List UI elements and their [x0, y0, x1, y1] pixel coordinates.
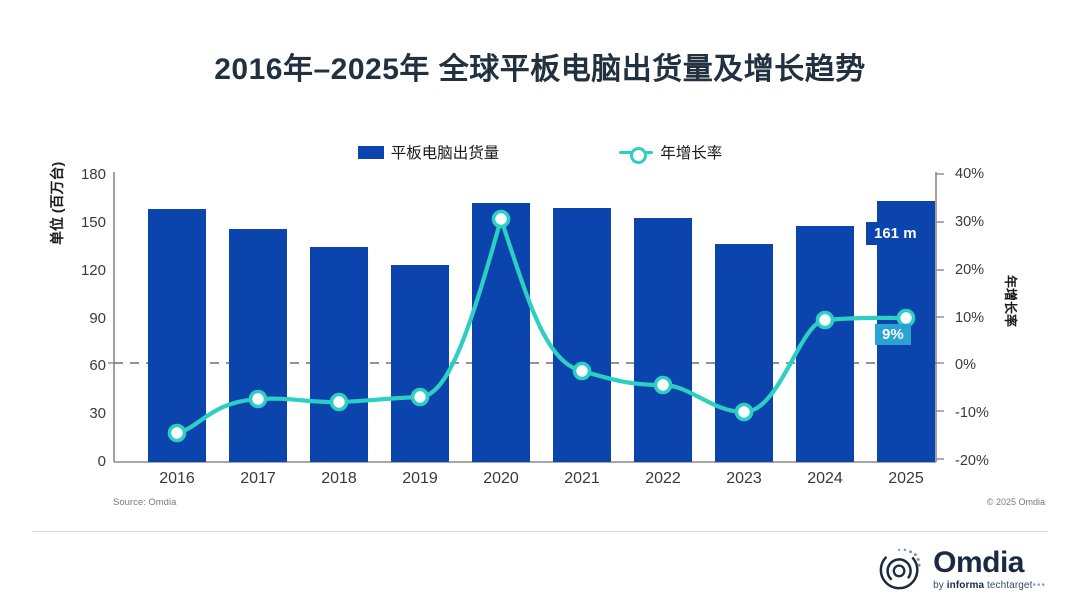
- page-title: 2016年–2025年 全球平板电脑出货量及增长趋势: [0, 44, 1080, 88]
- tagline-suffix: techtarget: [984, 580, 1032, 591]
- line-point-2021[interactable]: [575, 364, 590, 379]
- line-point-2024[interactable]: [818, 313, 833, 328]
- x-tick-2022: 2022: [623, 470, 703, 488]
- chart-legend: 平板电脑出货量 年增长率: [0, 141, 1080, 163]
- omdia-logo-wordmark: Omdia: [933, 548, 1046, 578]
- legend-label-shipments: 平板电脑出货量: [391, 141, 500, 163]
- x-tick-2019: 2019: [380, 470, 460, 488]
- bar-2024[interactable]: [796, 226, 854, 462]
- line-point-2019[interactable]: [413, 390, 428, 405]
- y-tick-left-60: 60: [58, 357, 106, 374]
- y-tick-right-40: 40%: [955, 166, 1011, 182]
- footer-divider: [32, 531, 1048, 532]
- y-tick-right-0: 0%: [955, 357, 1011, 373]
- tagline-dots: •••: [1032, 580, 1046, 591]
- x-tick-2025: 2025: [866, 470, 946, 488]
- line-point-markers: [170, 212, 914, 441]
- line-point-2025[interactable]: [899, 311, 914, 326]
- bar-2019[interactable]: [391, 265, 449, 462]
- legend-bar-swatch-icon: [358, 146, 384, 159]
- x-tick-2023: 2023: [704, 470, 784, 488]
- line-point-2017[interactable]: [251, 392, 266, 407]
- x-tick-2017: 2017: [218, 470, 298, 488]
- line-series-growth-rate: [177, 219, 906, 433]
- omdia-logo-tagline: by informa techtarget•••: [933, 581, 1046, 591]
- y-tick-left-180: 180: [58, 166, 106, 183]
- x-tick-2021: 2021: [542, 470, 622, 488]
- x-tick-2020: 2020: [461, 470, 541, 488]
- y-tick-left-90: 90: [58, 310, 106, 327]
- legend-item-shipments[interactable]: 平板电脑出货量: [358, 141, 500, 163]
- y-tick-marks-right: [936, 174, 944, 459]
- bar-series-shipments: [148, 201, 935, 462]
- bar-2020[interactable]: [472, 203, 530, 462]
- legend-line-swatch-icon: [619, 145, 653, 159]
- line-point-2023[interactable]: [737, 405, 752, 420]
- source-note: Source: Omdia: [113, 497, 176, 508]
- y-tick-right-10: 10%: [955, 310, 1011, 326]
- line-data-label-2025: 9%: [875, 324, 911, 345]
- omdia-logo-mark-icon: [878, 546, 924, 592]
- chart-canvas: [0, 0, 1080, 608]
- bar-data-label-2025: 161 m: [866, 222, 925, 245]
- legend-label-growth-rate: 年增长率: [660, 141, 722, 163]
- chart-plot-area: 单位 (百万台) 年增长率 180 150 120 90 60 30 0 40%…: [0, 0, 1080, 608]
- y-tick-left-120: 120: [58, 262, 106, 279]
- y-tick-right-30: 30%: [955, 214, 1011, 230]
- line-point-2016[interactable]: [170, 426, 185, 441]
- tagline-prefix: by: [933, 580, 947, 591]
- bar-2025[interactable]: [877, 201, 935, 462]
- x-tick-2018: 2018: [299, 470, 379, 488]
- copyright-note: © 2025 Omdia: [987, 497, 1045, 507]
- bar-2018[interactable]: [310, 247, 368, 462]
- y-tick-right-n20: -20%: [955, 453, 1011, 469]
- line-point-2022[interactable]: [656, 378, 671, 393]
- line-point-2020[interactable]: [494, 212, 509, 227]
- bar-2016[interactable]: [148, 209, 206, 462]
- x-tick-2024: 2024: [785, 470, 865, 488]
- bar-2022[interactable]: [634, 218, 692, 462]
- y-tick-right-20: 20%: [955, 262, 1011, 278]
- bar-2017[interactable]: [229, 229, 287, 462]
- legend-item-growth-rate[interactable]: 年增长率: [619, 141, 722, 163]
- line-point-2018[interactable]: [332, 395, 347, 410]
- y-axis-title-left: 单位 (百万台): [47, 162, 67, 245]
- omdia-logo: Omdia by informa techtarget•••: [878, 546, 1046, 592]
- bar-2021[interactable]: [553, 208, 611, 462]
- bar-2023[interactable]: [715, 244, 773, 462]
- y-tick-right-n10: -10%: [955, 405, 1011, 421]
- y-tick-left-30: 30: [58, 405, 106, 422]
- y-axis-title-right: 年增长率: [1002, 275, 1021, 327]
- y-tick-left-0: 0: [58, 453, 106, 470]
- x-tick-2016: 2016: [137, 470, 217, 488]
- tagline-brand: informa: [947, 580, 984, 591]
- y-tick-left-150: 150: [58, 214, 106, 231]
